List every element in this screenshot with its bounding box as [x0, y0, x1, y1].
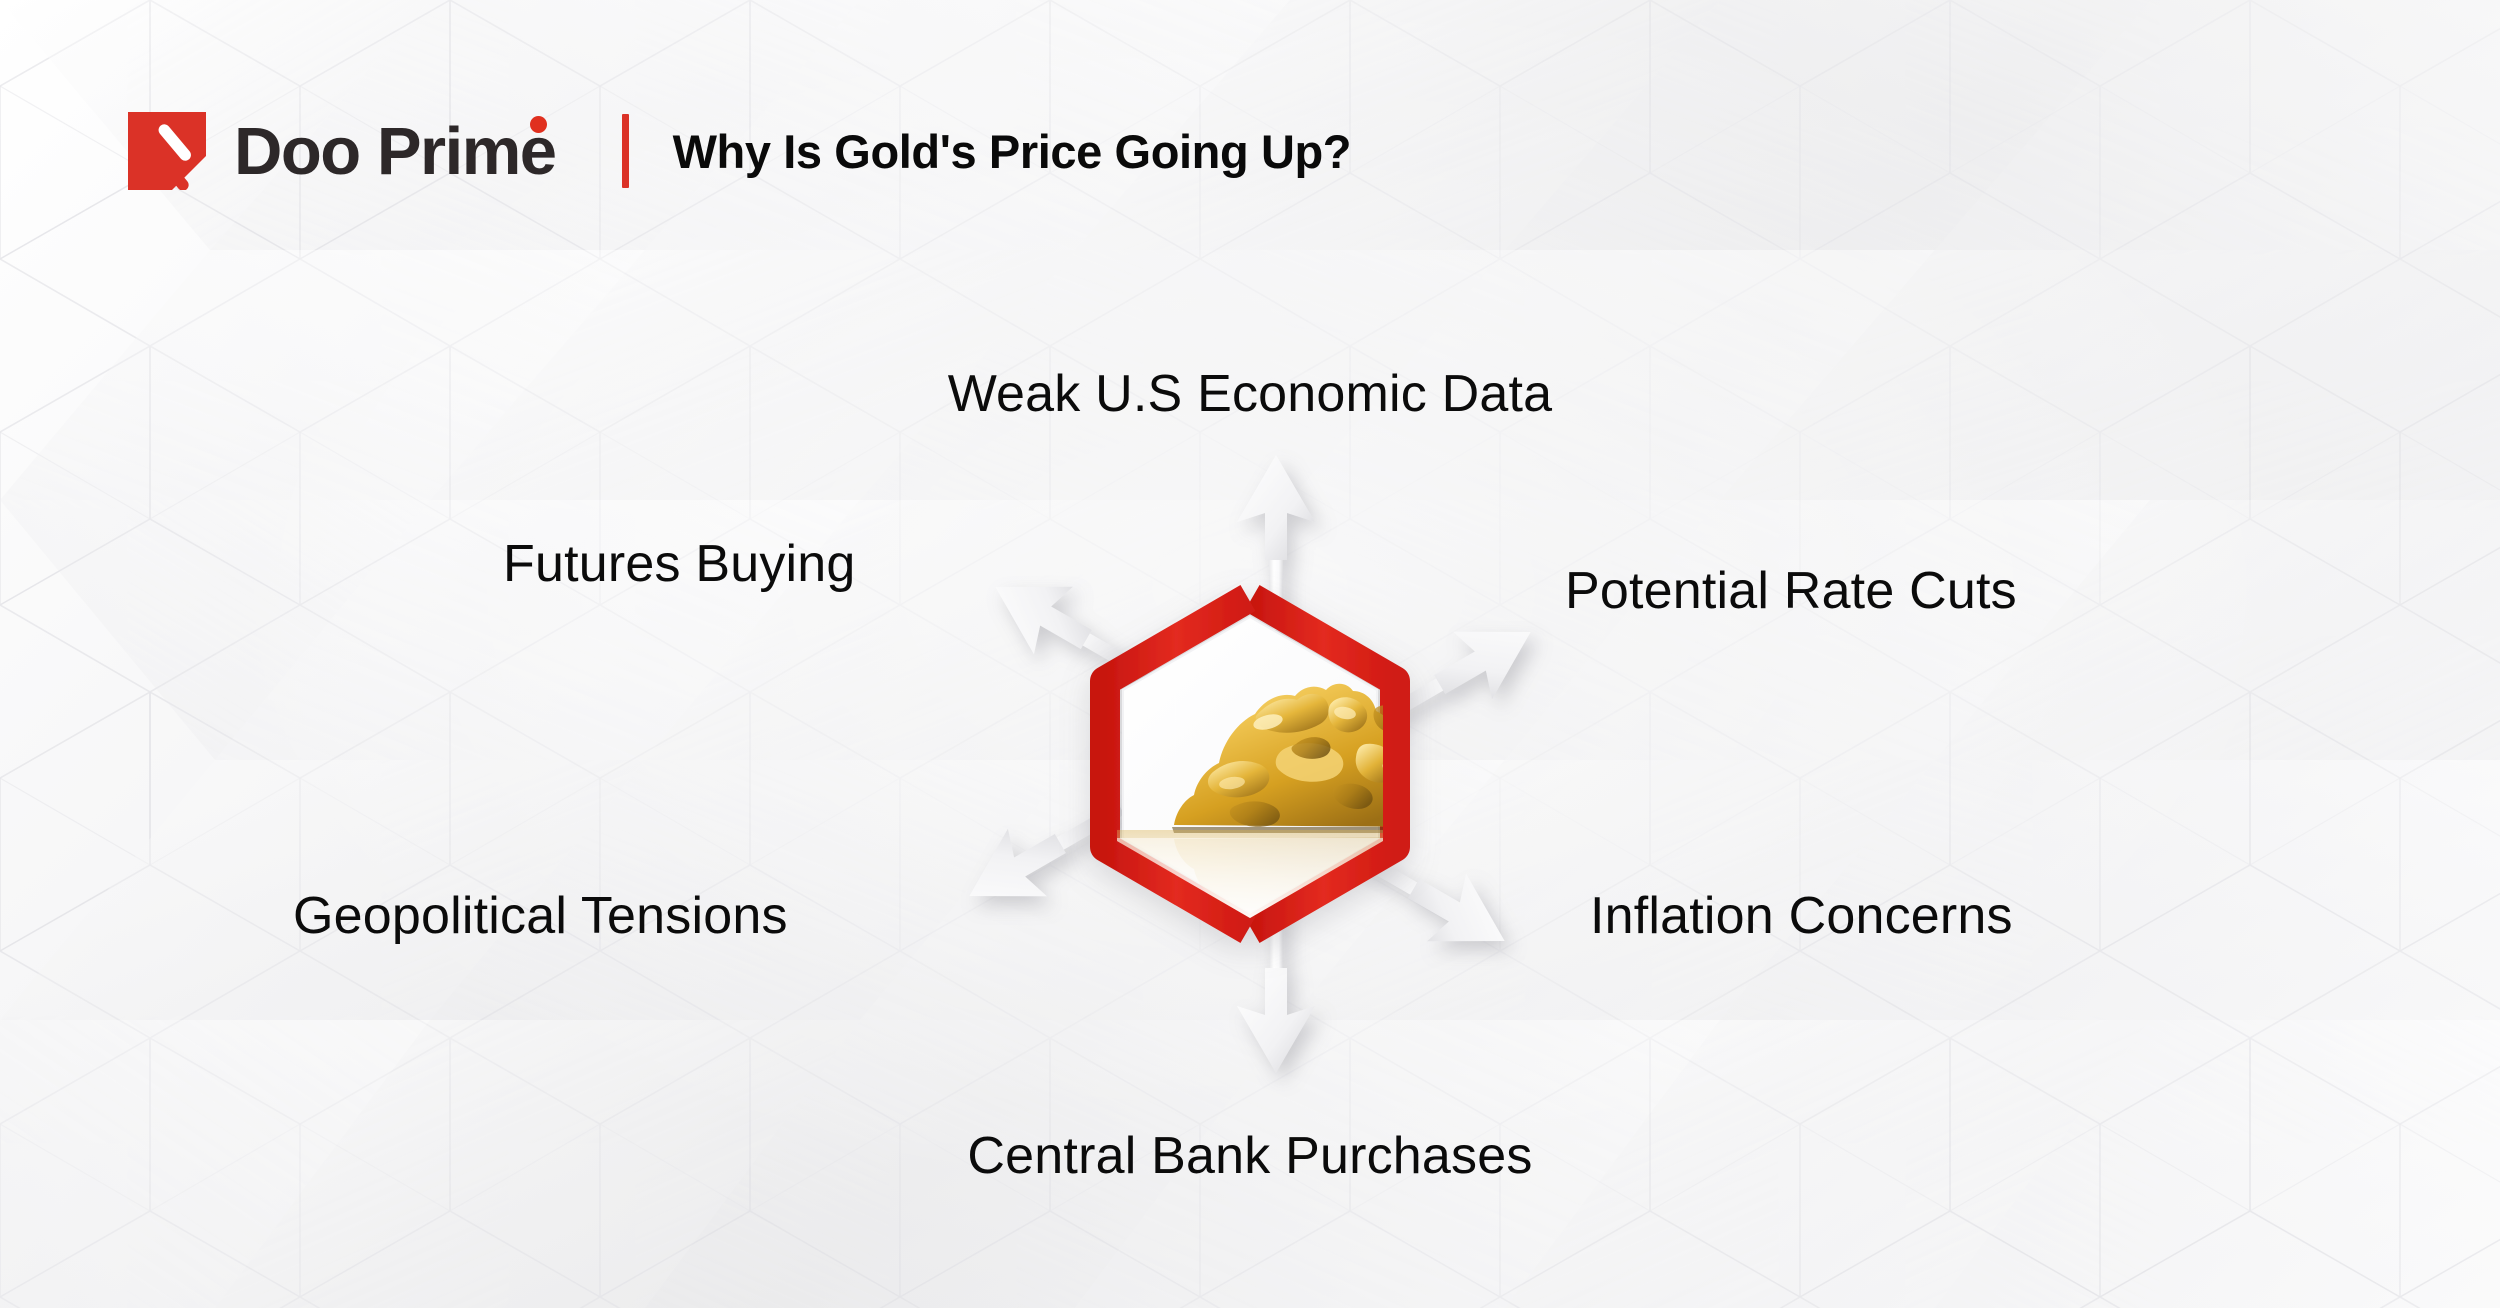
factor-label-futures-buying: Futures Buying	[503, 538, 856, 590]
infographic-canvas: Doo Prime Why Is Gold's Price Going Up?	[0, 0, 2500, 1308]
factor-label-central-bank-purchases: Central Bank Purchases	[967, 1130, 1532, 1182]
hexagon-badge	[1105, 598, 1395, 930]
prime-dot-icon	[530, 116, 547, 133]
background-vignette	[0, 0, 2500, 1308]
page-title: Why Is Gold's Price Going Up?	[673, 128, 1352, 175]
arrow-up-left-icon	[976, 553, 1167, 708]
gold-nugget-image	[1117, 684, 1437, 981]
arrow-down-left-icon	[950, 775, 1141, 930]
header: Doo Prime Why Is Gold's Price Going Up?	[128, 108, 1351, 194]
arrow-group	[950, 455, 1550, 1073]
vertical-divider	[622, 114, 629, 188]
factor-label-weak-us-economic-data: Weak U.S Economic Data	[948, 368, 1553, 420]
radial-diagram	[0, 0, 2500, 1308]
factor-label-geopolitical-tensions: Geopolitical Tensions	[293, 890, 788, 942]
background-pattern	[0, 0, 2500, 1308]
factor-label-potential-rate-cuts: Potential Rate Cuts	[1565, 565, 2017, 617]
brand-logo[interactable]: Doo Prime	[128, 112, 556, 190]
arrow-up-icon	[1237, 455, 1315, 630]
factor-label-inflation-concerns: Inflation Concerns	[1590, 890, 2013, 942]
hexagon-inner-face	[1123, 617, 1377, 911]
brand-name-text: Doo Prime	[234, 118, 556, 185]
arrow-down-right-icon	[1334, 820, 1525, 975]
arrow-down-icon	[1237, 898, 1315, 1073]
doo-prime-logo-icon	[128, 112, 206, 190]
brand-name: Doo Prime	[234, 118, 556, 185]
arrow-up-right-icon	[1360, 598, 1551, 753]
